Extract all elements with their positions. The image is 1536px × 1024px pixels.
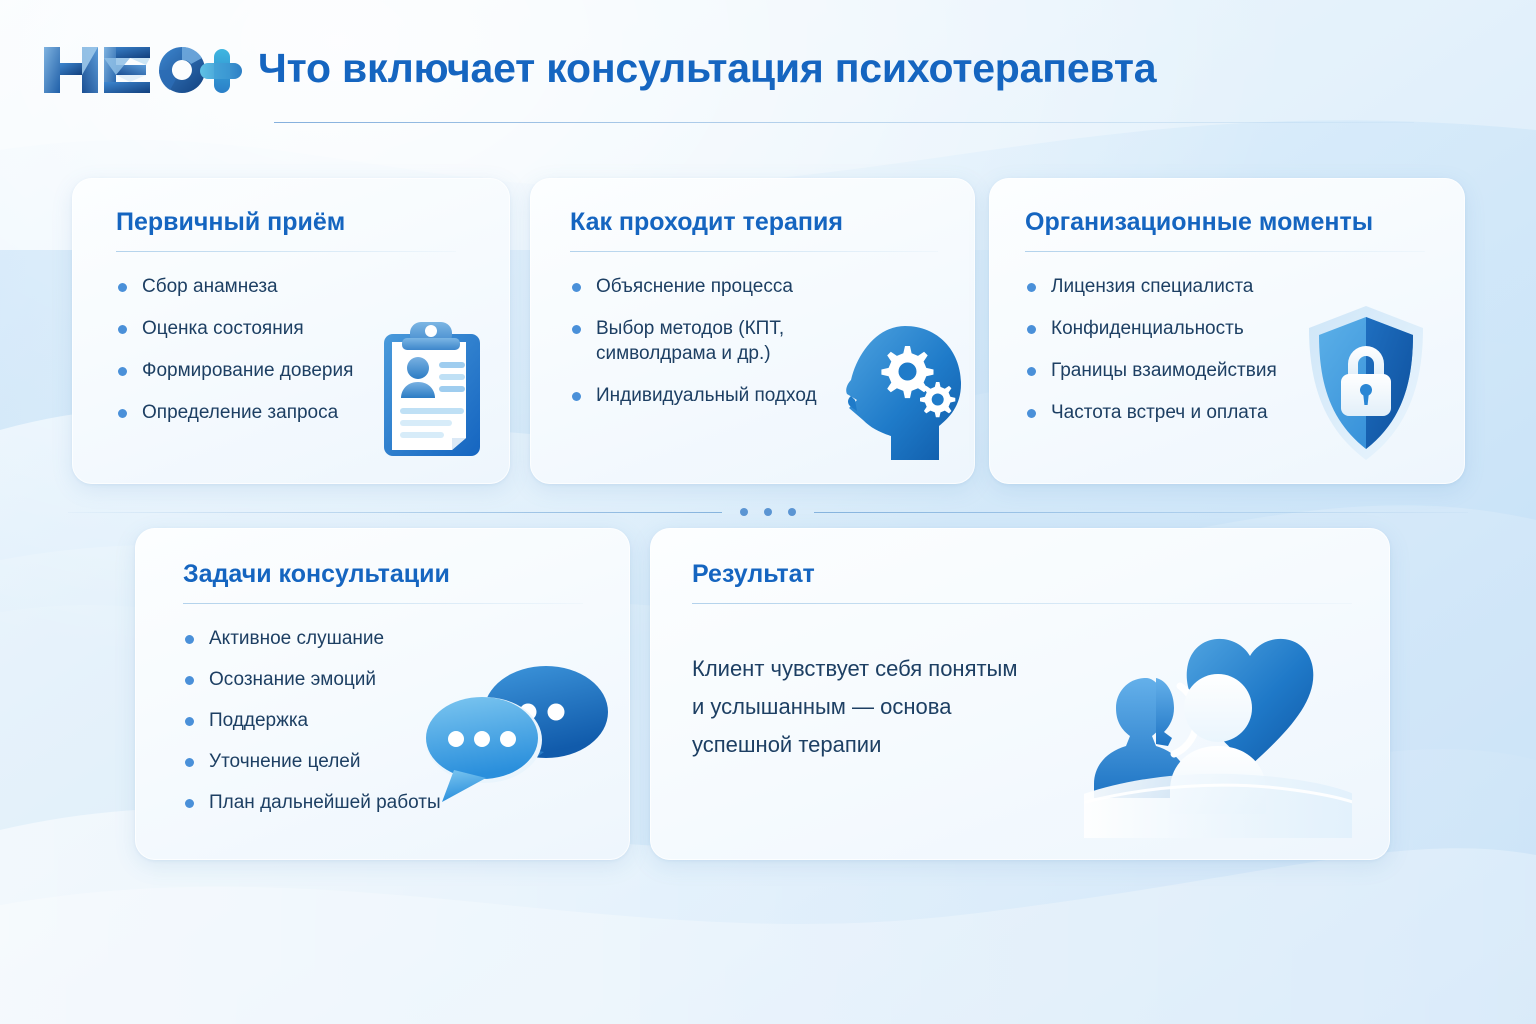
list-item: Определение запроса xyxy=(116,400,482,425)
neo-plus-logo xyxy=(42,41,242,99)
card-title: Первичный приём xyxy=(116,208,482,237)
bullet-dot-icon xyxy=(1027,325,1036,334)
bullet-dot-icon xyxy=(572,325,581,334)
list-item-label: Определение запроса xyxy=(142,402,338,423)
bullet-dot-icon xyxy=(1027,283,1036,292)
card-title: Задачи консультации xyxy=(183,560,602,589)
divider-dot-icon xyxy=(788,508,796,516)
list-item-label: Объяснение процесса xyxy=(596,276,793,297)
list-item-label: Оценка состояния xyxy=(142,318,304,339)
bullet-dot-icon xyxy=(118,367,127,376)
card-title: Организационные моменты xyxy=(1025,208,1437,237)
bullet-dot-icon xyxy=(118,409,127,418)
list-item: Частота встреч и оплата xyxy=(1025,400,1437,425)
list-item: Сбор анамнеза xyxy=(116,274,482,299)
list-item-label: План дальнейшей работы xyxy=(209,792,441,813)
card-title-divider xyxy=(116,251,456,252)
list-item: Осознание эмоций xyxy=(183,667,602,692)
list-item-label: Индивидуальный подход xyxy=(596,385,817,406)
result-line: и услышанным — основа xyxy=(692,688,1112,726)
page-header: Что включает консультация психотерапевта xyxy=(42,34,1422,138)
list-item-label: Частота встреч и оплата xyxy=(1051,402,1268,423)
list-item: Объяснение процесса xyxy=(570,274,947,299)
list-item: Активное слушание xyxy=(183,626,602,651)
bullet-dot-icon xyxy=(118,325,127,334)
card-organizational: Организационные моменты Лицензия специал… xyxy=(989,178,1465,484)
bullet-list: Объяснение процесса Выбор методов (КПТ, … xyxy=(570,274,947,408)
card-result: Результат Клиент чувствует себя понятым … xyxy=(650,528,1390,860)
list-item-label: Уточнение целей xyxy=(209,751,361,772)
bullet-dot-icon xyxy=(572,392,581,401)
bullet-dot-icon xyxy=(1027,409,1036,418)
list-item-label: Формирование доверия xyxy=(142,360,353,381)
card-primary-appointment: Первичный приём Сбор анамнеза Оценка сос… xyxy=(72,178,510,484)
header-divider xyxy=(274,122,1414,123)
bullet-list: Сбор анамнеза Оценка состояния Формирова… xyxy=(116,274,482,425)
list-item-label: Лицензия специалиста xyxy=(1051,276,1253,297)
list-item: Поддержка xyxy=(183,708,602,733)
divider-line-left xyxy=(68,512,722,513)
list-item-label: Границы взаимодействия xyxy=(1051,360,1277,381)
card-title-divider xyxy=(1025,251,1425,252)
card-title: Как проходит терапия xyxy=(570,208,947,237)
bullet-list: Активное слушание Осознание эмоций Подде… xyxy=(183,626,602,815)
list-item: Оценка состояния xyxy=(116,316,482,341)
card-title: Результат xyxy=(692,560,1362,589)
list-item-label: Активное слушание xyxy=(209,628,384,649)
card-consultation-tasks: Задачи консультации Активное слушание Ос… xyxy=(135,528,630,860)
list-item: Индивидуальный подход xyxy=(570,383,947,408)
bullet-dot-icon xyxy=(185,676,194,685)
card-title-divider xyxy=(692,603,1352,604)
result-line: Клиент чувствует себя понятым xyxy=(692,650,1112,688)
list-item: Формирование доверия xyxy=(116,358,482,383)
bullet-dot-icon xyxy=(118,283,127,292)
list-item-label: Осознание эмоций xyxy=(209,669,376,690)
divider-line-right xyxy=(814,512,1468,513)
divider-dot-icon xyxy=(740,508,748,516)
list-item: Уточнение целей xyxy=(183,749,602,774)
card-therapy-process: Как проходит терапия Объяснение процесса… xyxy=(530,178,975,484)
page-title: Что включает консультация психотерапевта xyxy=(258,48,1156,92)
section-divider xyxy=(68,505,1468,519)
card-title-divider xyxy=(570,251,938,252)
bullet-dot-icon xyxy=(185,635,194,644)
list-item: Границы взаимодействия xyxy=(1025,358,1437,383)
divider-dot-icon xyxy=(764,508,772,516)
bullet-dot-icon xyxy=(185,799,194,808)
bullet-dot-icon xyxy=(185,758,194,767)
bullet-list: Лицензия специалиста Конфиденциальность … xyxy=(1025,274,1437,425)
list-item: Выбор методов (КПТ, символдрама и др.) xyxy=(570,316,835,366)
list-item-label: Конфиденциальность xyxy=(1051,318,1244,339)
list-item-label: Поддержка xyxy=(209,710,308,731)
list-item: Лицензия специалиста xyxy=(1025,274,1437,299)
list-item: План дальнейшей работы xyxy=(183,790,602,815)
card-title-divider xyxy=(183,603,583,604)
result-line: успешной терапии xyxy=(692,726,1112,764)
bullet-dot-icon xyxy=(1027,367,1036,376)
list-item: Конфиденциальность xyxy=(1025,316,1437,341)
bullet-dot-icon xyxy=(572,283,581,292)
list-item-label: Сбор анамнеза xyxy=(142,276,278,297)
result-text: Клиент чувствует себя понятым и услышанн… xyxy=(692,650,1112,763)
bullet-dot-icon xyxy=(185,717,194,726)
divider-dots xyxy=(722,508,814,516)
list-item-label: Выбор методов (КПТ, символдрама и др.) xyxy=(596,318,784,364)
